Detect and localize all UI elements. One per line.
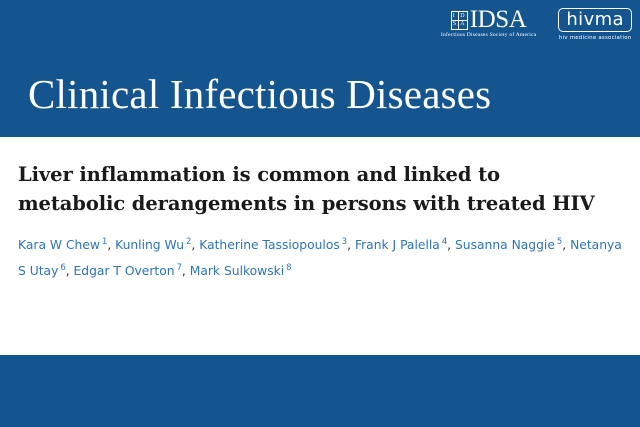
author-separator: , (66, 264, 74, 278)
author-affiliation-marker[interactable]: 3 (340, 236, 347, 246)
idsa-crest-letter-3: S (453, 21, 456, 28)
masthead-banner: I D S A IDSA Infectious Diseases Society… (0, 0, 640, 137)
author-name[interactable]: Susanna Naggie (455, 238, 555, 252)
author-affiliation-marker[interactable]: 6 (58, 262, 65, 272)
hivma-logo[interactable]: hivma hiv medicine association (558, 8, 632, 41)
author-list: Kara W Chew1, Kunling Wu2, Katherine Tas… (0, 218, 640, 282)
idsa-wordmark: IDSA (470, 10, 527, 30)
idsa-crest-letter-1: I (453, 13, 455, 20)
author-separator: , (182, 264, 190, 278)
author-separator: , (447, 238, 455, 252)
author-name[interactable]: Kunling Wu (115, 238, 184, 252)
footer-bar (0, 355, 640, 427)
idsa-tagline: Infectious Diseases Society of America (441, 33, 537, 39)
article-title-line-2: metabolic derangements in persons with t… (18, 192, 595, 215)
idsa-crest-letter-2: D (460, 13, 464, 20)
author-separator: , (347, 238, 355, 252)
author-affiliation-marker[interactable]: 8 (284, 262, 291, 272)
hivma-wordmark: hivma (566, 9, 624, 30)
author-name[interactable]: Frank J Palella (355, 238, 440, 252)
journal-article-header: I D S A IDSA Infectious Diseases Society… (0, 0, 640, 427)
author-name[interactable]: Edgar T Overton (74, 264, 175, 278)
author-affiliation-marker[interactable]: 7 (175, 262, 182, 272)
author-separator: , (562, 238, 570, 252)
author-name[interactable]: Katherine Tassiopoulos (199, 238, 340, 252)
author-separator: , (107, 238, 115, 252)
journal-title: Clinical Infectious Diseases (28, 72, 491, 117)
article-block: Liver inflammation is common and linked … (0, 137, 640, 282)
idsa-logo[interactable]: I D S A IDSA Infectious Diseases Society… (441, 10, 537, 39)
hivma-logo-box: hivma (558, 8, 632, 32)
author-name[interactable]: Mark Sulkowski (190, 264, 284, 278)
hivma-tagline: hiv medicine association (559, 36, 632, 41)
idsa-logo-top: I D S A IDSA (451, 10, 527, 30)
society-logos: I D S A IDSA Infectious Diseases Society… (441, 8, 632, 41)
article-title: Liver inflammation is common and linked … (0, 137, 640, 218)
idsa-crest-letter-4: A (460, 21, 464, 28)
article-title-line-1: Liver inflammation is common and linked … (18, 163, 500, 186)
idsa-crest-icon: I D S A (451, 11, 468, 30)
author-name[interactable]: Kara W Chew (18, 238, 100, 252)
